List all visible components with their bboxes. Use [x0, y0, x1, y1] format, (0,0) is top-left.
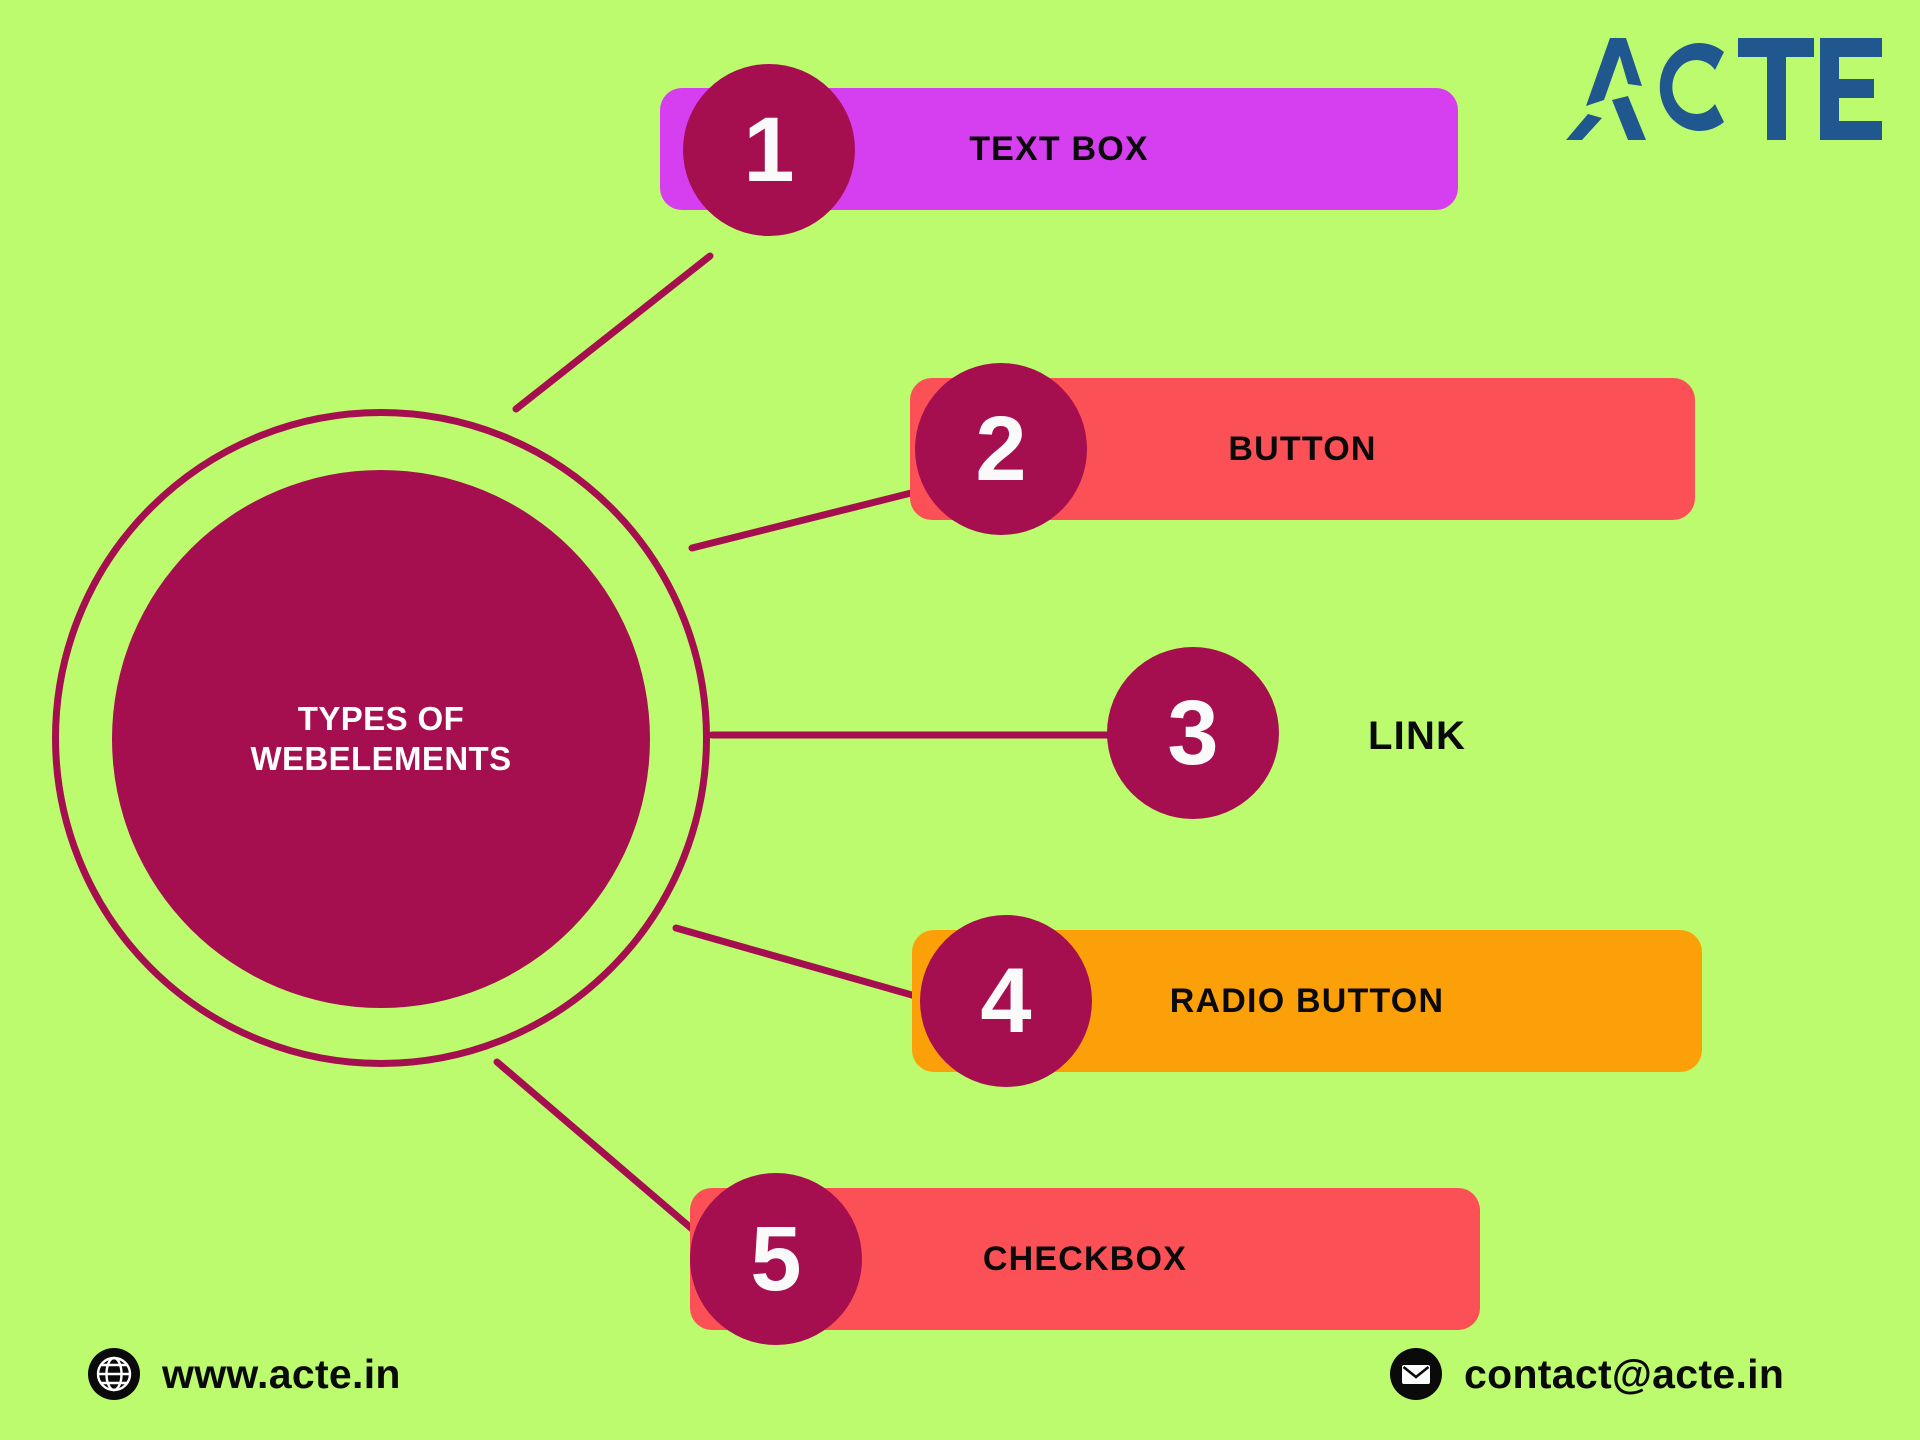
- item-number-5: 5: [750, 1213, 801, 1305]
- item-label-2: BUTTON: [1228, 430, 1376, 469]
- globe-icon: [88, 1348, 140, 1400]
- item-label-1: TEXT BOX: [969, 130, 1149, 169]
- item-label-3: LINK: [1368, 714, 1466, 759]
- connector-line-1: [516, 256, 710, 409]
- item-number-1: 1: [743, 104, 794, 196]
- footer-website-text: www.acte.in: [162, 1351, 401, 1398]
- envelope-icon: [1390, 1348, 1442, 1400]
- item-badge-1[interactable]: 1: [683, 64, 855, 236]
- hub-title: TYPES OF WEBELEMENTS: [250, 699, 511, 780]
- item-badge-5[interactable]: 5: [690, 1173, 862, 1345]
- footer-website[interactable]: www.acte.in: [88, 1348, 401, 1400]
- item-number-2: 2: [975, 403, 1026, 495]
- item-badge-4[interactable]: 4: [920, 915, 1092, 1087]
- item-badge-2[interactable]: 2: [915, 363, 1087, 535]
- item-label-5: CHECKBOX: [983, 1240, 1187, 1279]
- acte-logo: [1552, 28, 1892, 146]
- item-badge-3[interactable]: 3: [1107, 647, 1279, 819]
- footer-email[interactable]: contact@acte.in: [1390, 1348, 1784, 1400]
- item-label-4: RADIO BUTTON: [1170, 982, 1444, 1021]
- footer-email-text: contact@acte.in: [1464, 1351, 1784, 1398]
- connector-line-2: [692, 487, 935, 548]
- hub-circle: TYPES OF WEBELEMENTS: [112, 470, 650, 1008]
- connector-line-5: [497, 1062, 712, 1246]
- connector-line-4: [676, 928, 940, 1003]
- item-number-3: 3: [1167, 687, 1218, 779]
- item-number-4: 4: [980, 955, 1031, 1047]
- infographic-canvas: TYPES OF WEBELEMENTS TEXT BOX 1 BUTTON 2…: [0, 0, 1920, 1440]
